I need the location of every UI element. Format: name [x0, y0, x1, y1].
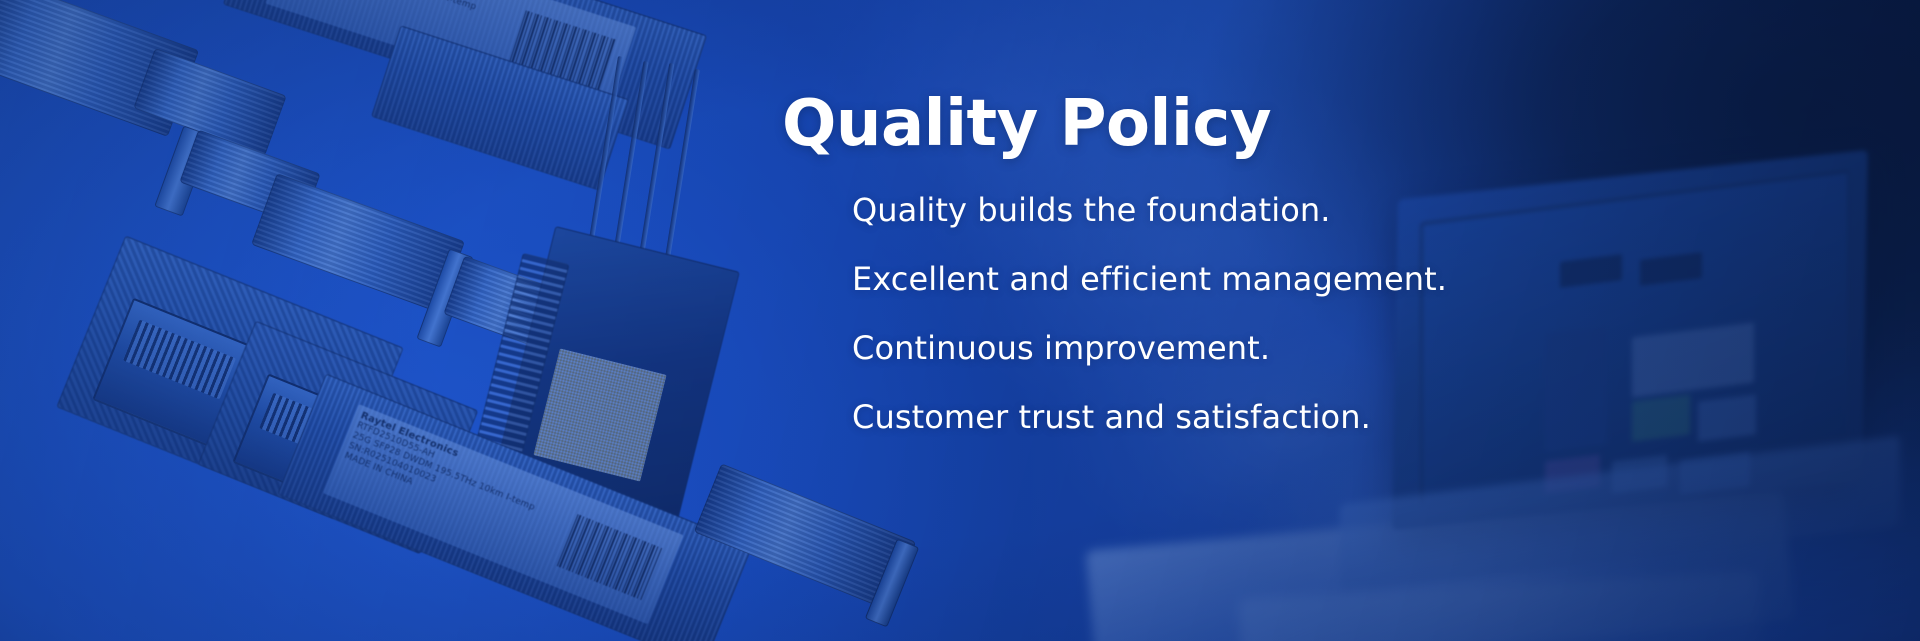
policy-line-1: Quality builds the foundation.	[852, 176, 1602, 245]
policy-statement-list: Quality builds the foundation. Excellent…	[782, 176, 1602, 452]
policy-line-2: Excellent and efficient management.	[852, 245, 1602, 314]
policy-line-3: Continuous improvement.	[852, 314, 1602, 383]
quality-policy-banner: Raytel Electronics RTFD2510D55-AH 25G SF…	[0, 0, 1920, 641]
page-title: Quality Policy	[782, 86, 1602, 162]
policy-line-4: Customer trust and satisfaction.	[852, 383, 1602, 452]
banner-content: Quality Policy Quality builds the founda…	[782, 86, 1602, 452]
